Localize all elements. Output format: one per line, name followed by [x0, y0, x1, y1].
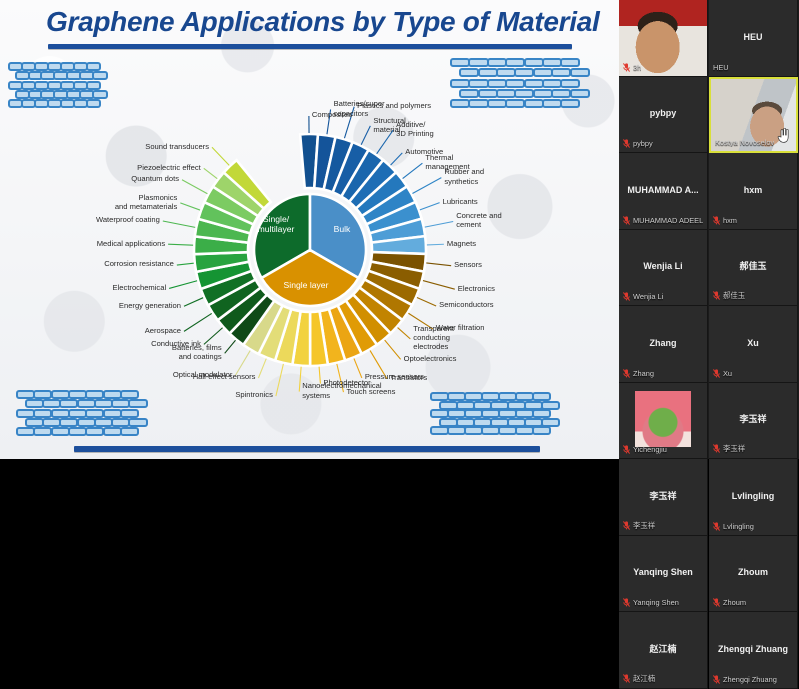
participant-tag-label: HEU: [713, 63, 729, 72]
participant-name-wenjia-li: Wenjia Li: [619, 261, 707, 271]
participant-nameplate-xu: Xu: [713, 369, 794, 378]
leader-line: [163, 221, 195, 227]
mic-muted-icon: [623, 445, 630, 454]
chart-segment-label: Magnets: [447, 239, 476, 248]
participant-tile-xu[interactable]: XuXu: [709, 306, 798, 383]
participant-tag-label: 郝佳玉: [723, 290, 745, 301]
participant-tile-zhengqi-zhuang[interactable]: Zhengqi ZhuangZhengqi Zhuang: [709, 612, 798, 689]
leader-line: [423, 281, 455, 290]
leader-line: [417, 297, 436, 306]
sunburst-chart: Single/ multilayerBulkSingle layerCompos…: [118, 58, 502, 442]
chart-segment-label: Rubber and synthetics: [444, 167, 484, 185]
leader-line: [385, 340, 401, 359]
participant-nameplate-liyuxiang: 李玉祥: [713, 443, 794, 454]
leader-line: [276, 364, 284, 396]
mic-muted-icon: [623, 63, 630, 72]
participant-tag-label: Lvlingling: [723, 522, 754, 531]
participant-nameplate-yichengjiu: Yichengjiu: [623, 445, 704, 454]
participants-rail[interactable]: 3h3hHEUHEUpybpypybpyKostya NovoselovKost…: [619, 0, 799, 459]
participant-nameplate-wenjia-li: Wenjia Li: [623, 292, 704, 301]
leader-line: [426, 263, 451, 266]
participant-tile-yichengjiu[interactable]: Yichengjiu: [619, 383, 708, 460]
page-title: Graphene Applications by Type of Materia…: [46, 6, 586, 38]
participant-tag-label: pybpy: [633, 139, 653, 148]
chart-segment-label: Concrete and cement: [456, 211, 502, 229]
mic-muted-icon: [623, 369, 630, 378]
participant-name-xu: Xu: [709, 338, 797, 348]
participant-tile-lvlingling[interactable]: LvlinglingLvlingling: [709, 459, 798, 536]
participant-nameplate-pybpy: pybpy: [623, 139, 704, 148]
participant-nameplate-3h: 3h: [623, 63, 704, 72]
participant-tile-pybpy[interactable]: pybpypybpy: [619, 77, 708, 154]
chart-segment-label: Nanoelectromechanical systems: [302, 381, 381, 399]
leader-line: [299, 367, 301, 392]
participant-nameplate-heu: HEU: [713, 63, 794, 72]
participant-tile-hxm[interactable]: hxmhxm: [709, 153, 798, 230]
participant-tag-label: 3h: [633, 63, 641, 72]
mic-muted-icon: [623, 216, 630, 225]
leader-line: [427, 244, 444, 245]
chart-segment-label: Sound transducers: [145, 142, 209, 151]
leader-line: [169, 281, 197, 289]
participant-tag-label: Yichengjiu: [633, 445, 667, 454]
participant-tile-heu[interactable]: HEUHEU: [709, 0, 798, 77]
screen: Graphene Applications by Type of Materia…: [0, 0, 799, 459]
title-divider: [48, 44, 572, 49]
participant-tag-label: Xu: [723, 369, 732, 378]
leader-line: [180, 203, 200, 210]
chart-segment-label: Waterproof coating: [96, 215, 160, 224]
participant-name-muhammad-adeel: MUHAMMAD A...: [619, 185, 707, 195]
participant-name-yanqing-shen: Yanqing Shen: [619, 567, 707, 577]
leader-line: [204, 168, 217, 178]
participant-nameplate-lvlingling: Lvlingling: [713, 522, 794, 531]
mic-muted-icon: [623, 521, 630, 530]
participant-tile-wenjia-li[interactable]: Wenjia LiWenjia Li: [619, 230, 708, 307]
leader-line: [212, 147, 229, 165]
mic-muted-icon: [623, 292, 630, 301]
participant-tag-label: Zhang: [633, 369, 654, 378]
leader-line: [391, 153, 403, 165]
chart-segment-label: Conductive ink: [151, 339, 201, 348]
graphene-sheet-icon: [10, 62, 106, 114]
participant-name-heu: HEU: [709, 32, 797, 42]
participant-name-pybpy: pybpy: [619, 108, 707, 118]
participant-name-liyuxiang-2: 李玉祥: [619, 489, 707, 502]
leader-line: [177, 263, 194, 265]
participant-tile-zhoum[interactable]: ZhoumZhoum: [709, 536, 798, 613]
mic-muted-icon: [713, 291, 720, 300]
leader-line: [412, 178, 441, 194]
participant-tile-liyuxiang-2[interactable]: 李玉祥李玉祥: [619, 459, 708, 536]
chart-segment-label: Optoelectronics: [404, 354, 457, 363]
leader-line: [184, 298, 203, 307]
leader-line: [403, 163, 423, 178]
chart-center-label-single-layer: Single layer: [266, 280, 346, 290]
chart-center-label-bulk: Bulk: [302, 224, 382, 234]
participant-tile-3h[interactable]: 3h3h: [619, 0, 708, 77]
chart-segment-label: Piezoelectric effect: [137, 163, 201, 172]
chart-segment-label: Sensors: [454, 260, 482, 269]
leader-line: [258, 359, 266, 378]
chart-segment-label: Optical modulator: [173, 370, 233, 379]
mic-muted-icon: [713, 216, 720, 225]
chart-segment-label: Energy generation: [119, 301, 181, 310]
participant-tag-label: 赵江楠: [633, 673, 655, 684]
chart-segment-label: Plasmonics and metamaterials: [115, 193, 177, 211]
participant-nameplate-yanqing-shen: Yanqing Shen: [623, 598, 704, 607]
mic-muted-icon: [713, 369, 720, 378]
leader-line: [398, 328, 411, 339]
participant-name-zhaojiangyu: 赵江楠: [619, 642, 707, 655]
participant-name-lvlingling: Lvlingling: [709, 491, 797, 501]
participant-tag-label: Wenjia Li: [633, 292, 663, 301]
participant-tag-label: Zhoum: [723, 598, 746, 607]
leader-line: [168, 244, 193, 245]
participant-tile-kostya-novoselov[interactable]: Kostya NovoselovKostya Novoselov: [709, 77, 798, 154]
participant-tag-label: Yanqing Shen: [633, 598, 679, 607]
participant-tile-muhammad-adeel[interactable]: MUHAMMAD A...MUHAMMAD ADEEL: [619, 153, 708, 230]
leader-line: [204, 328, 223, 345]
footer-divider: [74, 446, 540, 452]
chart-segment-label: Medical applications: [97, 239, 165, 248]
chart-segment-label: Transparent conducting electrodes: [413, 324, 454, 352]
participant-tile-zhang[interactable]: ZhangZhang: [619, 306, 708, 383]
participant-tag-label: Kostya Novoselov: [715, 138, 774, 147]
participant-tag-label: 李玉祥: [633, 520, 655, 531]
participant-name-zhang: Zhang: [619, 338, 707, 348]
shared-slide: Graphene Applications by Type of Materia…: [0, 0, 619, 459]
chart-segment-label: Spintronics: [235, 390, 273, 399]
participant-tag-label: Zhengqi Zhuang: [723, 675, 777, 684]
leader-line: [225, 340, 236, 353]
leader-line: [425, 221, 453, 227]
leader-line: [184, 313, 212, 331]
chart-segment-label: Lubricants: [443, 197, 478, 206]
participant-nameplate-haojiayu: 郝佳玉: [713, 290, 794, 301]
chart-segment-label: Aerospace: [145, 326, 181, 335]
mic-muted-icon: [623, 598, 630, 607]
participant-nameplate-zhaojiangyu: 赵江楠: [623, 673, 704, 684]
participant-name-zhoum: Zhoum: [709, 567, 797, 577]
leader-line: [354, 358, 362, 377]
participant-nameplate-liyuxiang-2: 李玉祥: [623, 520, 704, 531]
participant-nameplate-muhammad-adeel: MUHAMMAD ADEEL: [623, 216, 704, 225]
leader-line: [420, 203, 440, 210]
chart-segment-label: Quantum dots: [131, 174, 179, 183]
mic-muted-icon: [713, 522, 720, 531]
hand-pointer-cursor-icon: [777, 128, 790, 143]
participant-name-haojiayu: 郝佳玉: [709, 259, 797, 272]
chart-segment-label: Corrosion resistance: [104, 259, 174, 268]
mic-muted-icon: [713, 598, 720, 607]
participant-tile-liyuxiang[interactable]: 李玉祥李玉祥: [709, 383, 798, 460]
participant-name-zhengqi-zhuang: Zhengqi Zhuang: [709, 644, 797, 654]
mic-muted-icon: [623, 139, 630, 148]
participant-tile-haojiayu[interactable]: 郝佳玉郝佳玉: [709, 230, 798, 307]
participant-name-liyuxiang: 李玉祥: [709, 412, 797, 425]
participant-nameplate-zhengqi-zhuang: Zhengqi Zhuang: [713, 675, 794, 684]
mic-muted-icon: [713, 675, 720, 684]
participant-nameplate-hxm: hxm: [713, 216, 794, 225]
participant-name-hxm: hxm: [709, 185, 797, 195]
participant-tile-zhaojiangyu[interactable]: 赵江楠赵江楠: [619, 612, 708, 689]
mic-muted-icon: [623, 674, 630, 683]
chart-segment-label: Additive/ 3D Printing: [396, 120, 434, 138]
participant-tile-yanqing-shen[interactable]: Yanqing ShenYanqing Shen: [619, 536, 708, 613]
chart-segment-label: Semiconductors: [439, 300, 493, 309]
chart-segment-label: Plastics and polymers: [357, 101, 431, 110]
participant-nameplate-zhang: Zhang: [623, 369, 704, 378]
avatar: [635, 391, 691, 447]
leader-line: [182, 180, 207, 194]
chart-segment-label: Electronics: [458, 284, 495, 293]
chart-segment-label: Electrochemical: [113, 283, 167, 292]
participant-tag-label: MUHAMMAD ADEEL: [633, 216, 703, 225]
participant-tag-label: 李玉祥: [723, 443, 745, 454]
participant-tag-label: hxm: [723, 216, 737, 225]
participant-nameplate-zhoum: Zhoum: [713, 598, 794, 607]
chart-segment-label: Pressure sensors: [365, 372, 424, 381]
mic-muted-icon: [713, 444, 720, 453]
leader-line: [361, 126, 370, 145]
